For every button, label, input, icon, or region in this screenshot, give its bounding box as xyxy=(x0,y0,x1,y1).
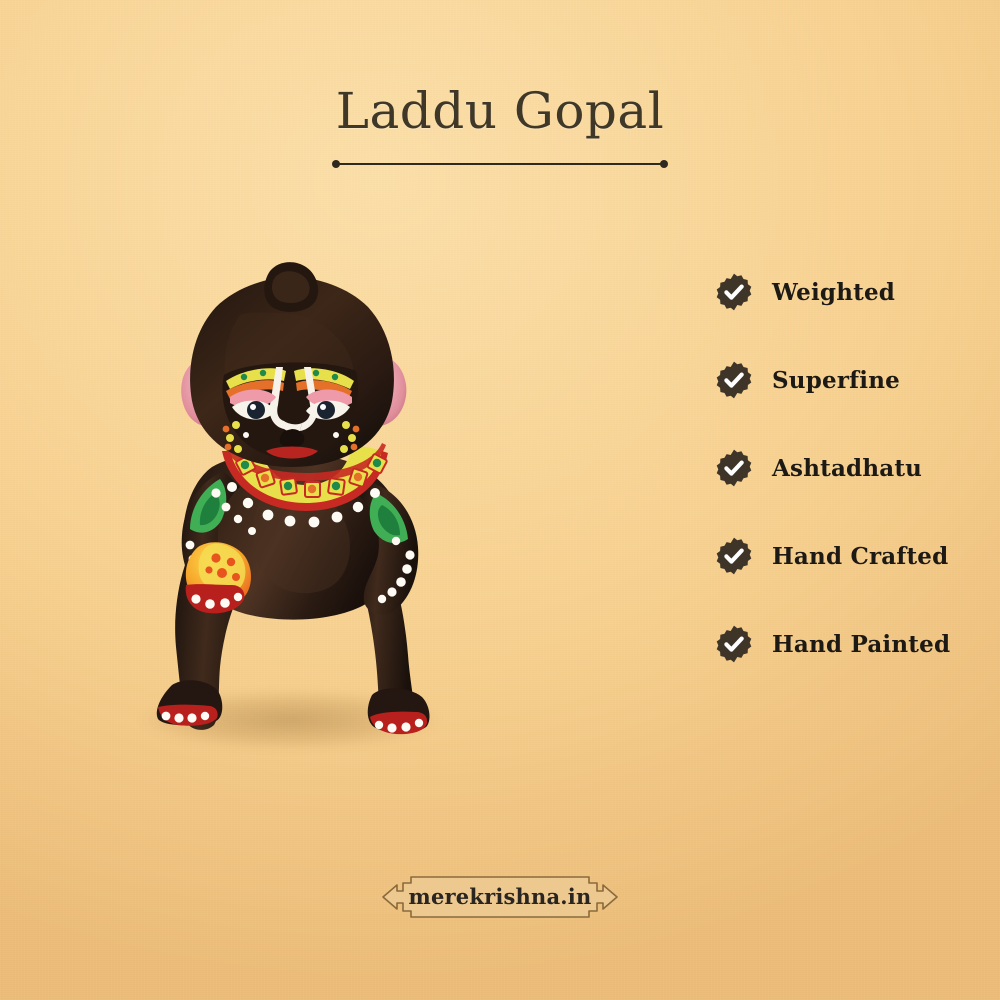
feature-item-hand-painted: Hand Painted xyxy=(714,622,994,666)
site-badge-label: merekrishna.in xyxy=(370,868,630,926)
laddu-sweet xyxy=(186,542,251,613)
feature-label: Superfine xyxy=(772,367,900,394)
site-badge[interactable]: merekrishna.in xyxy=(370,868,630,926)
feature-label: Ashtadhatu xyxy=(772,455,922,482)
divider-rule xyxy=(336,163,664,165)
feature-item-weighted: Weighted xyxy=(714,270,994,314)
idol-figure xyxy=(157,262,430,734)
check-badge-icon xyxy=(714,536,754,576)
feature-label: Weighted xyxy=(772,279,895,306)
feature-item-superfine: Superfine xyxy=(714,358,994,402)
feature-item-hand-crafted: Hand Crafted xyxy=(714,534,994,578)
check-badge-icon xyxy=(714,624,754,664)
dot-cap-right-icon xyxy=(660,160,668,168)
feature-list: Weighted Superfine Ashtadhatu xyxy=(714,270,994,666)
check-badge-icon xyxy=(714,360,754,400)
check-badge-icon xyxy=(714,448,754,488)
feature-item-ashtadhatu: Ashtadhatu xyxy=(714,446,994,490)
page-title: Laddu Gopal xyxy=(0,86,1000,136)
title-block: Laddu Gopal xyxy=(0,86,1000,168)
feature-label: Hand Crafted xyxy=(772,543,948,570)
feature-label: Hand Painted xyxy=(772,631,950,658)
laddu-gopal-idol-image xyxy=(120,255,500,755)
check-badge-icon xyxy=(714,272,754,312)
product-poster: Laddu Gopal xyxy=(0,0,1000,1000)
title-divider xyxy=(332,160,668,168)
